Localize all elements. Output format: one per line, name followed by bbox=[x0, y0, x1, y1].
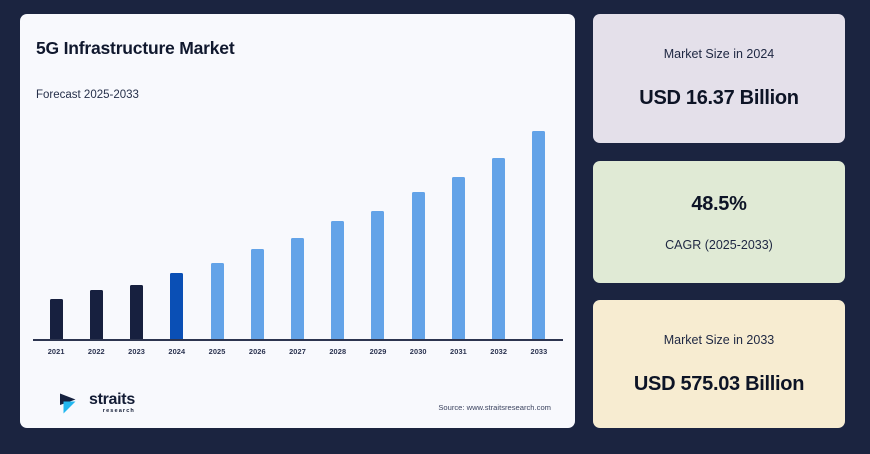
bar-2031[interactable] bbox=[452, 177, 465, 340]
bar-slot bbox=[318, 114, 358, 340]
x-tick-2032: 2032 bbox=[479, 347, 519, 356]
stat-card-market-size-2024: Market Size in 2024USD 16.37 Billion bbox=[593, 14, 845, 143]
stat-card-list: Market Size in 2024USD 16.37 Billion48.5… bbox=[593, 14, 845, 428]
bar-2023[interactable] bbox=[130, 285, 143, 340]
bar-slot bbox=[197, 114, 237, 340]
bar-slot bbox=[237, 114, 277, 340]
stat-card-label: CAGR (2025-2033) bbox=[665, 238, 773, 252]
infographic-root: 5G Infrastructure Market Forecast 2025-2… bbox=[0, 0, 870, 454]
x-axis-tick-labels: 2021202220232024202520262027202820292030… bbox=[36, 347, 559, 356]
x-tick-2030: 2030 bbox=[398, 347, 438, 356]
stat-card-label: Market Size in 2024 bbox=[664, 47, 774, 61]
chart-subtitle: Forecast 2025-2033 bbox=[36, 89, 139, 101]
page-title: 5G Infrastructure Market bbox=[36, 38, 234, 59]
straits-research-logo: straits research bbox=[58, 390, 135, 416]
x-tick-2029: 2029 bbox=[358, 347, 398, 356]
bar-2032[interactable] bbox=[492, 158, 505, 340]
bar-2027[interactable] bbox=[291, 238, 304, 340]
bar-slot bbox=[116, 114, 156, 340]
bar-slot bbox=[36, 114, 76, 340]
source-attribution: Source: www.straitsresearch.com bbox=[438, 403, 551, 412]
bar-2025[interactable] bbox=[211, 263, 224, 340]
straits-logo-arrow-icon bbox=[58, 390, 84, 416]
x-tick-2024: 2024 bbox=[157, 347, 197, 356]
x-tick-2033: 2033 bbox=[519, 347, 559, 356]
bar-slot bbox=[76, 114, 116, 340]
bar-2022[interactable] bbox=[90, 290, 103, 340]
stat-card-value: 48.5% bbox=[691, 193, 746, 216]
bar-slot bbox=[438, 114, 478, 340]
x-tick-2022: 2022 bbox=[76, 347, 116, 356]
bar-2029[interactable] bbox=[371, 211, 384, 340]
straits-logo-text: straits research bbox=[89, 392, 135, 415]
bar-2024[interactable] bbox=[170, 273, 183, 340]
x-tick-2027: 2027 bbox=[277, 347, 317, 356]
logo-wordmark: straits bbox=[89, 392, 135, 408]
x-tick-2028: 2028 bbox=[318, 347, 358, 356]
bar-slot bbox=[358, 114, 398, 340]
bar-series bbox=[36, 114, 559, 340]
bar-slot bbox=[398, 114, 438, 340]
x-axis-line bbox=[33, 339, 563, 341]
logo-subtext: research bbox=[89, 409, 135, 415]
stat-card-value: USD 16.37 Billion bbox=[639, 87, 798, 110]
bar-slot bbox=[277, 114, 317, 340]
x-tick-2023: 2023 bbox=[116, 347, 156, 356]
x-tick-2031: 2031 bbox=[438, 347, 478, 356]
bar-slot bbox=[157, 114, 197, 340]
bar-slot bbox=[479, 114, 519, 340]
stat-card-cagr: 48.5%CAGR (2025-2033) bbox=[593, 161, 845, 283]
stat-card-label: Market Size in 2033 bbox=[664, 333, 774, 347]
chart-panel: 5G Infrastructure Market Forecast 2025-2… bbox=[20, 14, 575, 428]
stat-card-market-size-2033: Market Size in 2033USD 575.03 Billion bbox=[593, 300, 845, 428]
bar-chart-plot-area bbox=[36, 114, 559, 340]
bar-2026[interactable] bbox=[251, 249, 264, 340]
bar-slot bbox=[519, 114, 559, 340]
bar-2033[interactable] bbox=[532, 131, 545, 340]
bar-2030[interactable] bbox=[412, 192, 425, 340]
stat-card-value: USD 575.03 Billion bbox=[634, 373, 804, 396]
bar-2021[interactable] bbox=[50, 299, 63, 340]
x-tick-2025: 2025 bbox=[197, 347, 237, 356]
x-tick-2026: 2026 bbox=[237, 347, 277, 356]
x-tick-2021: 2021 bbox=[36, 347, 76, 356]
bar-2028[interactable] bbox=[331, 221, 344, 340]
